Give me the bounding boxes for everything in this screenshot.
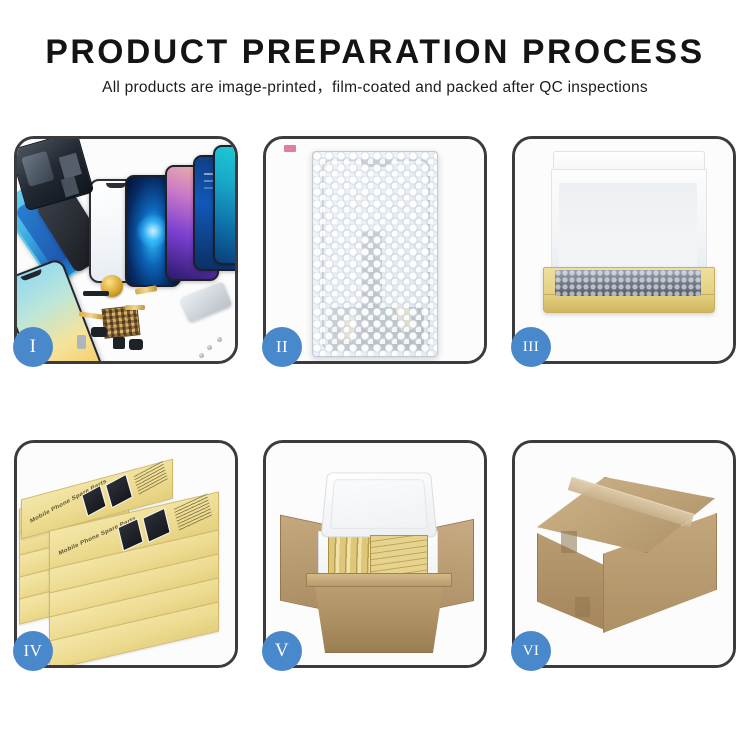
connector-grid-icon (102, 305, 141, 339)
tray-front-face (544, 294, 714, 312)
carton-front-face-icon (308, 579, 450, 653)
chip-icon (83, 291, 109, 296)
carton-seam-icon (561, 531, 577, 553)
bubble-wrap-bag-icon (312, 151, 438, 357)
bubble-wrap-illustration (266, 139, 484, 361)
chip-icon (91, 327, 107, 337)
process-steps-grid: I II (14, 136, 736, 668)
sealed-carton-illustration (515, 443, 733, 665)
foam-lid-icon (321, 472, 438, 537)
step-panel-3[interactable]: III (512, 136, 736, 364)
page-title: PRODUCT PREPARATION PROCESS (4, 32, 747, 72)
step-image-3 (515, 139, 733, 361)
screw-icon (199, 353, 204, 358)
chip-icon (113, 337, 125, 349)
screw-icon (217, 337, 222, 342)
step-badge-6: VI (511, 631, 551, 671)
step-image-4: Mobile Phone Spare Parts Mobile Phone Sp… (17, 443, 235, 665)
step-badge-1: I (13, 327, 53, 367)
step-image-1 (17, 139, 235, 361)
box-window-icon (142, 508, 170, 543)
pink-qc-sticker-icon (284, 145, 296, 152)
box-spec-lines (174, 494, 213, 531)
step-panel-1[interactable]: I (14, 136, 238, 364)
screw-icon (207, 345, 212, 350)
chip-icon (77, 335, 86, 349)
step-badge-3: III (511, 327, 551, 367)
carton-seam-icon (575, 597, 590, 617)
step-badge-4: IV (13, 631, 53, 671)
carton-packing-illustration (266, 443, 484, 665)
phone-parts-illustration (17, 139, 235, 361)
step-panel-2[interactable]: II (263, 136, 487, 364)
step-image-2 (266, 139, 484, 361)
step-image-6 (515, 443, 733, 665)
carton-front-lip (306, 573, 452, 587)
page-subtitle: All products are image-printed，film-coat… (0, 77, 750, 99)
box-window-icon (105, 474, 133, 509)
inner-box-illustration (515, 139, 733, 361)
phone-teal-icon (213, 145, 235, 265)
step-badge-5: V (262, 631, 302, 671)
step-badge-2: II (262, 327, 302, 367)
box-inner-shadow (559, 183, 697, 273)
logic-board-icon (17, 139, 94, 211)
flex-cable-icon (125, 305, 145, 310)
page-header: PRODUCT PREPARATION PROCESS All products… (0, 0, 750, 99)
step-panel-5[interactable]: V (263, 440, 487, 668)
step-image-5 (266, 443, 484, 665)
bubble-wrapped-item-icon (555, 270, 701, 296)
repair-tool-icon (180, 281, 232, 322)
chip-icon (129, 339, 143, 350)
step-panel-6[interactable]: VI (512, 440, 736, 668)
stacked-boxes-illustration: Mobile Phone Spare Parts Mobile Phone Sp… (17, 443, 235, 665)
step-panel-4[interactable]: Mobile Phone Spare Parts Mobile Phone Sp… (14, 440, 238, 668)
box-spec-lines (134, 461, 169, 496)
